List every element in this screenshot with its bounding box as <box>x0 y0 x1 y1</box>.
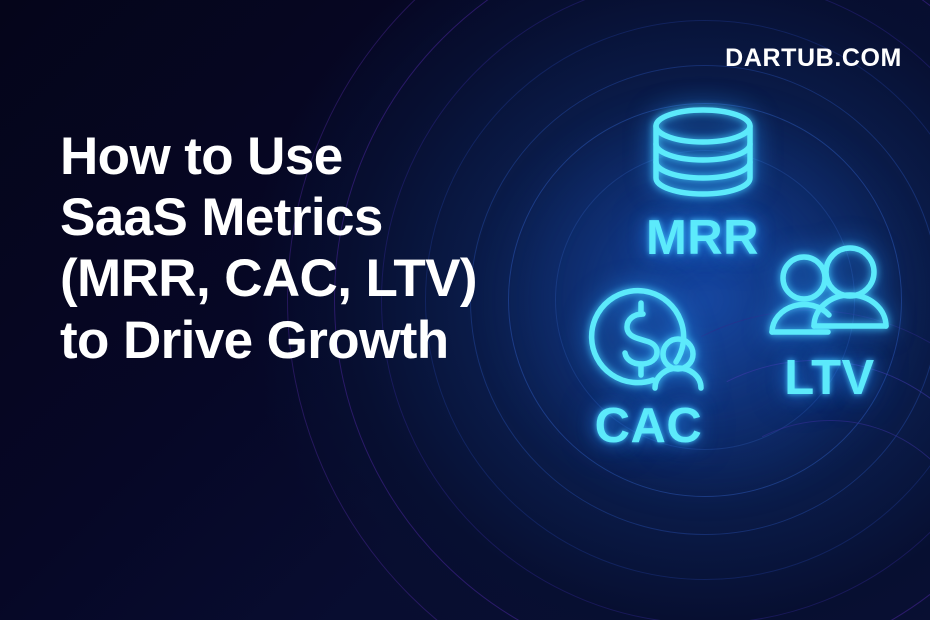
dollar-circle-person-icon <box>583 278 715 396</box>
metric-node-mrr: MRR <box>570 104 835 266</box>
metric-node-ltv: LTV <box>742 248 917 406</box>
metric-label-cac: CAC <box>595 398 703 454</box>
title-line-2: SaaS Metrics <box>60 187 530 248</box>
metric-label-ltv: LTV <box>784 350 874 406</box>
title-line-1: How to Use <box>60 126 530 187</box>
page-title: How to Use SaaS Metrics (MRR, CAC, LTV) … <box>60 126 530 371</box>
database-cylinder-icon <box>644 104 762 204</box>
metric-node-cac: CAC <box>556 278 741 454</box>
title-line-4: to Drive Growth <box>60 310 530 371</box>
two-users-icon <box>766 248 894 348</box>
title-line-3: (MRR, CAC, LTV) <box>60 248 530 309</box>
brand-watermark: DARTUB.COM <box>725 44 902 73</box>
cover-canvas: DARTUB.COM How to Use SaaS Metrics (MRR,… <box>0 0 930 620</box>
